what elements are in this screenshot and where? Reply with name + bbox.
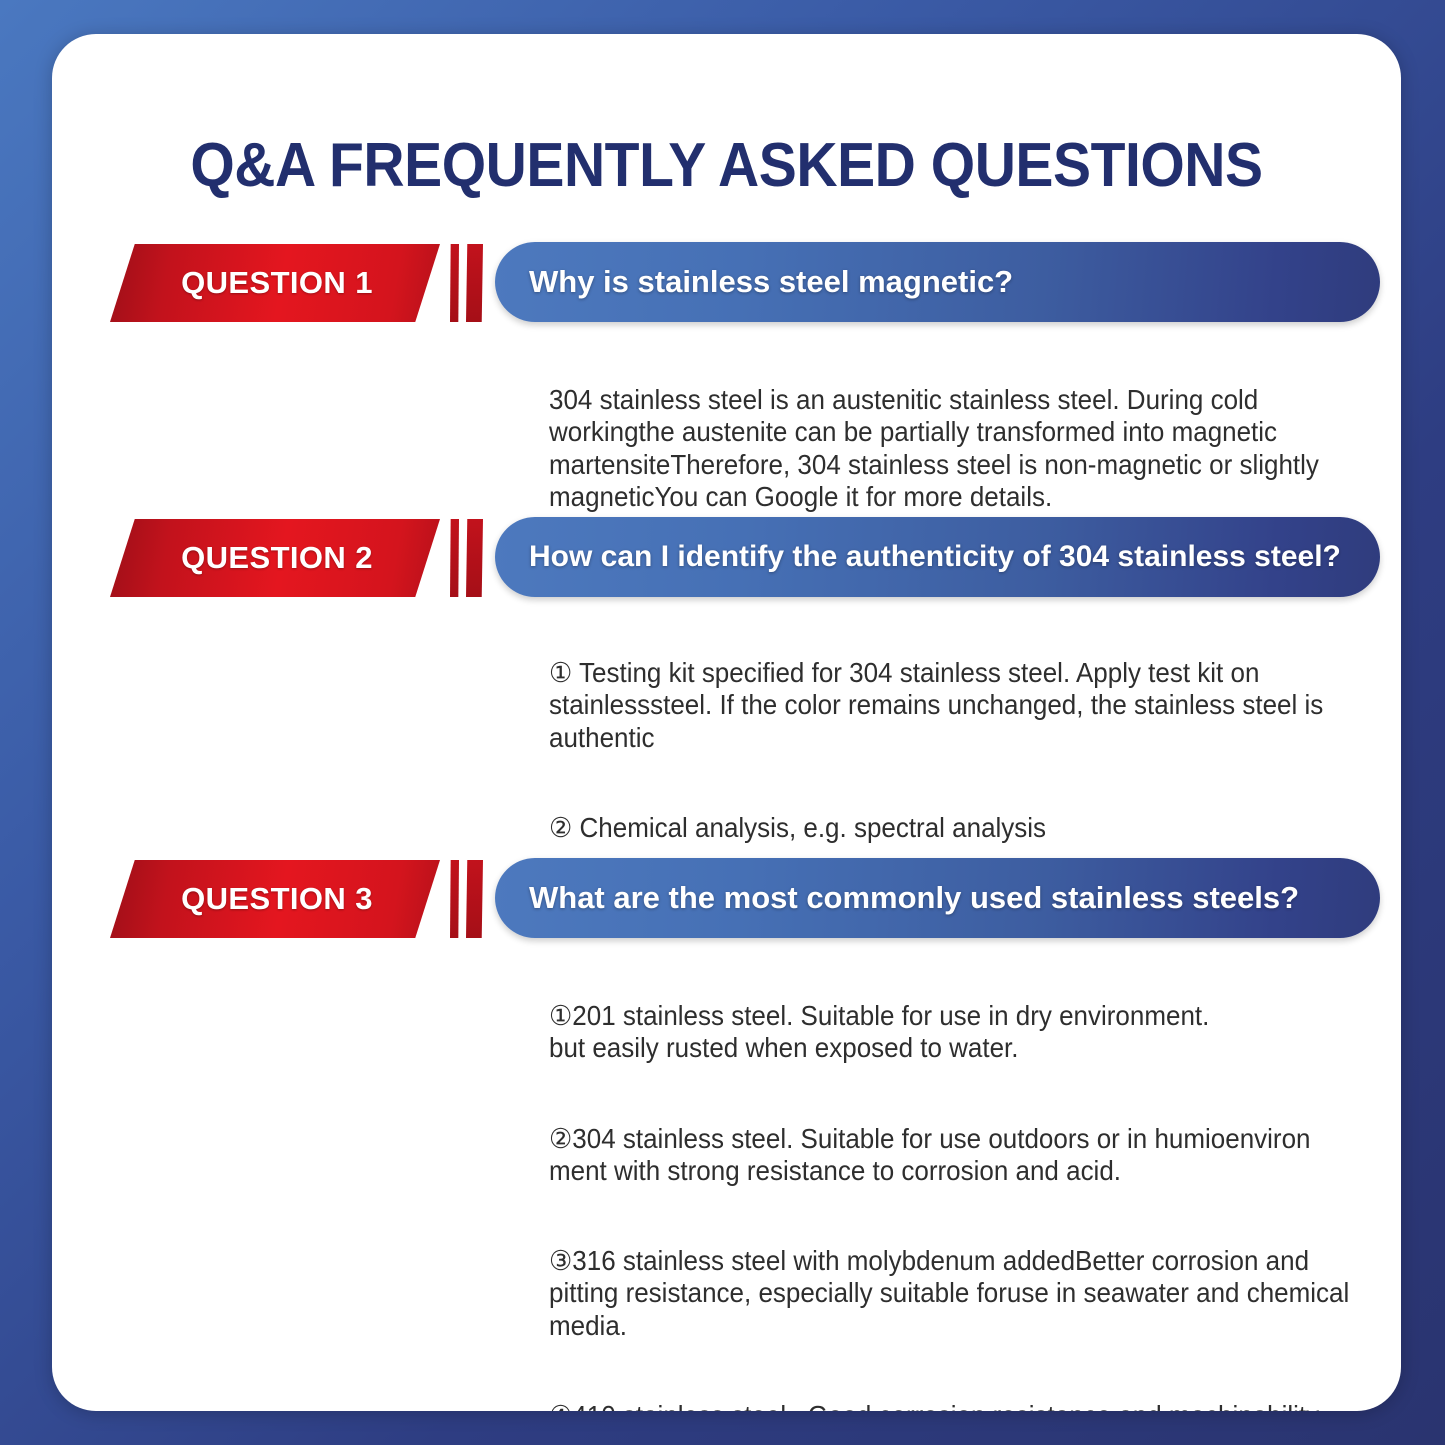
question-heading-label-1: Why is stainless steel magnetic?: [529, 264, 1013, 300]
page-title: Q&A FREQUENTLY ASKED QUESTIONS: [106, 130, 1347, 201]
question-block-3: QUESTION 3 What are the most commonly us…: [52, 860, 1401, 1411]
question-heading-pill-2: How can I identify the authenticity of 3…: [495, 517, 1380, 597]
slash-thick-icon-1: [466, 244, 483, 322]
question-heading-pill-3: What are the most commonly used stainles…: [495, 858, 1380, 938]
question-tag-banner-3: QUESTION 3: [110, 860, 440, 938]
question-tag-label-3: QUESTION 3: [181, 881, 373, 917]
question-heading-label-2: How can I identify the authenticity of 3…: [529, 540, 1341, 574]
question-tag-label-1: QUESTION 1: [181, 265, 373, 301]
question-heading-pill-1: Why is stainless steel magnetic?: [495, 242, 1380, 322]
slash-thick-icon-3: [466, 860, 483, 938]
slash-thin-icon-2: [450, 519, 459, 597]
faq-card: Q&A FREQUENTLY ASKED QUESTIONS QUESTION …: [52, 34, 1401, 1411]
slash-thin-icon-3: [450, 860, 459, 938]
question-header-2: QUESTION 2 How can I identify the authen…: [52, 519, 1401, 597]
question-block-1: QUESTION 1 Why is stainless steel magnet…: [52, 244, 1401, 545]
answer-paragraph: ① Testing kit specified for 304 stainles…: [549, 657, 1381, 754]
question-tag-label-2: QUESTION 2: [181, 540, 373, 576]
slash-thin-icon-1: [450, 244, 459, 322]
answer-paragraph: ④410 stainless steel . Good corrosion re…: [549, 1400, 1381, 1411]
answer-paragraph: ②304 stainless steel. Suitable for use o…: [549, 1123, 1381, 1187]
answer-body-3: ①201 stainless steel. Suitable for use i…: [549, 968, 1381, 1411]
question-header-1: QUESTION 1 Why is stainless steel magnet…: [52, 244, 1401, 322]
question-heading-label-3: What are the most commonly used stainles…: [529, 880, 1299, 916]
question-tag-banner-2: QUESTION 2: [110, 519, 440, 597]
slash-thick-icon-2: [466, 519, 483, 597]
answer-paragraph: 304 stainless steel is an austenitic sta…: [549, 384, 1381, 513]
answer-paragraph: ①201 stainless steel. Suitable for use i…: [549, 1000, 1381, 1064]
answer-paragraph: ② Chemical analysis, e.g. spectral analy…: [549, 812, 1381, 844]
question-header-3: QUESTION 3 What are the most commonly us…: [52, 860, 1401, 938]
question-tag-banner-1: QUESTION 1: [110, 244, 440, 322]
answer-paragraph: ③316 stainless steel with molybdenum add…: [549, 1245, 1381, 1342]
